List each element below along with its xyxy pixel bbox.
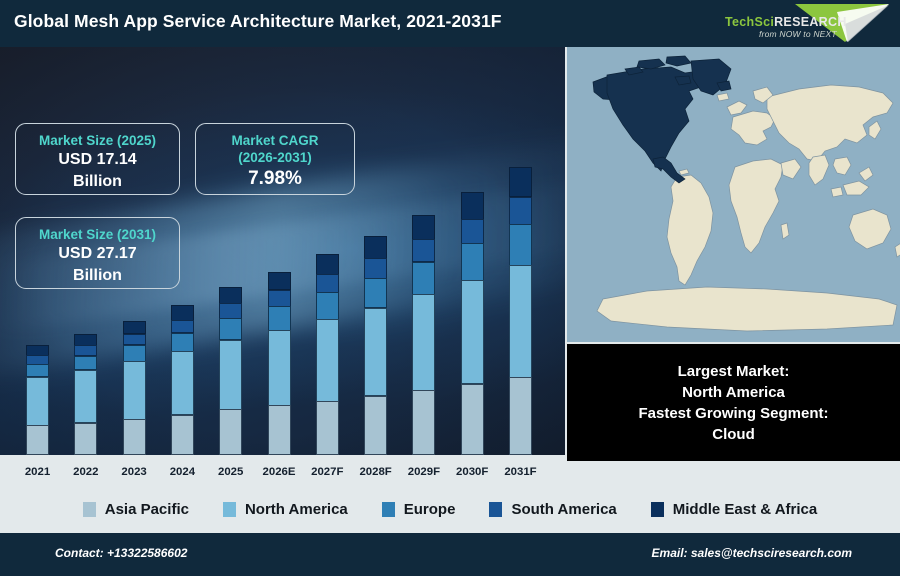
page-title: Global Mesh App Service Architecture Mar…	[14, 11, 502, 32]
logo-tagline: from NOW to NEXT	[759, 29, 837, 39]
footer-contact: Contact: +13322586602	[55, 546, 187, 560]
logo-brand-research: RESEARCH	[774, 15, 847, 29]
header-bar: Global Mesh App Service Architecture Mar…	[0, 0, 900, 47]
chart-legend: Asia PacificNorth AmericaEuropeSouth Ame…	[0, 485, 900, 533]
chart-panel: Market Size (2025) USD 17.14 Billion Mar…	[0, 47, 565, 485]
x-axis-tick-label: 2031F	[493, 466, 549, 478]
map-landmass	[831, 187, 843, 197]
legend-item[interactable]: Middle East & Africa	[651, 501, 817, 518]
info-line-fastest-segment-label: Fastest Growing Segment:	[638, 403, 828, 424]
techsci-logo[interactable]: TechSciRESEARCH from NOW to NEXT	[717, 2, 892, 45]
legend-swatch-icon	[223, 502, 236, 517]
legend-label: Europe	[404, 501, 456, 518]
legend-label: North America	[245, 501, 348, 518]
legend-label: Middle East & Africa	[673, 501, 817, 518]
legend-item[interactable]: South America	[489, 501, 616, 518]
legend-item[interactable]: Asia Pacific	[83, 501, 189, 518]
logo-brand-tech: TechSci	[725, 15, 774, 29]
info-line-largest-market-value: North America	[682, 382, 785, 403]
legend-swatch-icon	[83, 502, 96, 517]
x-axis-labels: 202120222023202420252026E2027F2028F2029F…	[0, 47, 565, 485]
infographic-root: Global Mesh App Service Architecture Mar…	[0, 0, 900, 576]
world-map-panel	[567, 47, 900, 342]
legend-item[interactable]: North America	[223, 501, 348, 518]
legend-item[interactable]: Europe	[382, 501, 456, 518]
footer-bar: Contact: +13322586602 Email: sales@techs…	[0, 533, 900, 576]
footer-email: Email: sales@techsciresearch.com	[652, 546, 852, 560]
legend-swatch-icon	[651, 502, 664, 517]
legend-label: Asia Pacific	[105, 501, 189, 518]
info-line-largest-market-label: Largest Market:	[678, 361, 790, 382]
info-box: Largest Market: North America Fastest Gr…	[567, 344, 900, 461]
logo-wordmark: TechSciRESEARCH	[725, 15, 847, 29]
legend-label: South America	[511, 501, 616, 518]
legend-swatch-icon	[489, 502, 502, 517]
world-map-icon	[567, 47, 900, 342]
legend-swatch-icon	[382, 502, 395, 517]
info-line-fastest-segment-value: Cloud	[712, 424, 755, 445]
